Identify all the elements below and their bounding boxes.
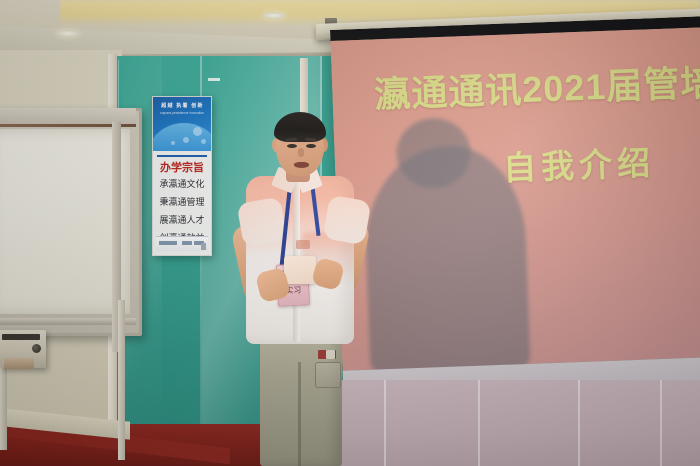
whiteboard-surface[interactable] — [0, 129, 130, 314]
eye-right — [306, 144, 316, 148]
nose — [298, 148, 304, 157]
footer-chip — [159, 241, 177, 245]
light-reflection — [208, 78, 220, 81]
poster-header-subtext: surpass persistence innovation — [156, 111, 208, 115]
printer-paper-slot — [2, 334, 40, 340]
trousers — [260, 328, 342, 466]
poster-header: 超越 执着 创新 surpass persistence innovation — [153, 97, 211, 151]
footer-chip — [182, 241, 192, 245]
wall-poster: 超越 执着 创新 surpass persistence innovation … — [152, 96, 212, 256]
downlight-icon — [262, 12, 286, 19]
whiteboard-stand-post — [118, 300, 125, 460]
cargo-pocket — [315, 362, 341, 388]
presentation-room-photo: Panaboard 超越 执着 创新 surpass persistence i… — [0, 0, 700, 466]
tile-seam — [478, 380, 480, 466]
projection-screen: 瀛通通讯2021届管培生 自我介绍 — [330, 16, 700, 409]
poster-rule — [157, 155, 207, 157]
poster-logo-icon — [201, 243, 206, 250]
tiled-wall-lower — [330, 380, 700, 466]
poster-header-text: 超越 执着 创新 — [158, 102, 207, 109]
downlight-icon — [56, 30, 80, 37]
poster-line: 秉瀛通管理 — [155, 195, 209, 208]
right-sleeve — [322, 195, 371, 246]
left-sleeve — [237, 197, 288, 248]
poster-bubble — [183, 137, 189, 143]
pocket-tab-icon — [326, 350, 335, 359]
trouser-seam — [298, 362, 301, 466]
tile-seam — [578, 380, 580, 466]
mouth — [294, 162, 309, 168]
poster-line: 展瀛通人才 — [155, 213, 209, 226]
hair — [274, 112, 326, 142]
screen-vignette — [330, 27, 700, 371]
poster-wave-graphic — [153, 123, 211, 151]
chest-marking — [296, 240, 310, 249]
eye-left — [287, 144, 297, 148]
presenter: 实习 — [214, 112, 374, 466]
tile-seam — [384, 380, 386, 466]
held-card — [284, 256, 316, 284]
poster-bubble — [171, 141, 175, 145]
poster-line: 承瀛通文化 — [155, 177, 209, 190]
tile-seam — [660, 380, 662, 466]
poster-title: 办学宗旨 — [155, 159, 209, 175]
printer-paper — [4, 358, 34, 369]
printer-knob-icon[interactable] — [32, 344, 41, 353]
poster-bubble — [201, 139, 206, 144]
poster-bubble — [193, 127, 202, 136]
